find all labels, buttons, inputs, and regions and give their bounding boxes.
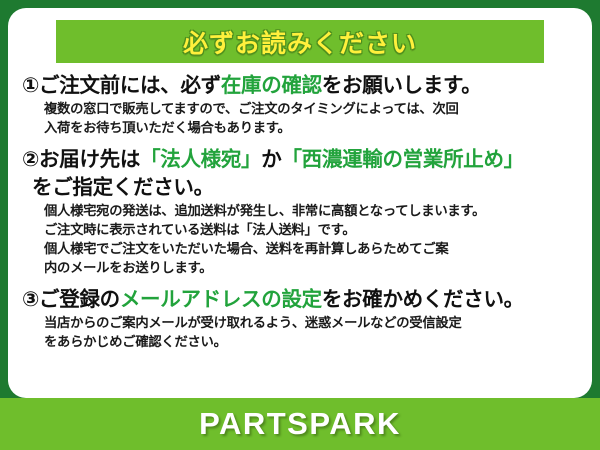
section-body-line: ご注文時に表示されている送料は「法人送料」です。 <box>44 222 578 241</box>
heading-highlight: 「法人様宛」 <box>140 147 261 171</box>
section-body-line: 内のメールをお送りします。 <box>44 260 578 279</box>
section-heading: ①ご注文前には、必ず在庫の確認をお願いします。 <box>22 72 578 99</box>
notice-banner: 必ずお読みください ①ご注文前には、必ず在庫の確認をお願いします。複数の窓口で販… <box>0 0 600 450</box>
section-body-line: 入荷をお待ち頂いただく場合もあります。 <box>44 120 578 139</box>
notice-section: ③ご登録のメールアドレスの設定をお確かめください。当店からのご案内メールが受け取… <box>22 286 578 353</box>
section-body: 当店からのご案内メールが受け取れるよう、迷惑メールなどの受信設定をあらかじめご確… <box>22 315 578 353</box>
section-heading: ②お届け先は「法人様宛」か「西濃運輸の営業所止め」 <box>22 146 578 173</box>
footer-bar: PARTSPARK <box>0 398 600 450</box>
section-body: 複数の窓口で販売してますので、ご注文のタイミングによっては、次回入荷をお待ち頂い… <box>22 101 578 139</box>
heading-text: をお願いします。 <box>322 73 482 97</box>
section-body-line: 個人様宅でご注文をいただいた場合、送料を再計算しあらためてご案 <box>44 241 578 260</box>
section-body: 個人様宅宛の発送は、追加送料が発生し、非常に高額となってしまいます。ご注文時に表… <box>22 203 578 279</box>
heading-text: ②お届け先は <box>22 147 140 171</box>
header-banner-bar: 必ずお読みください <box>56 20 544 63</box>
heading-text: ①ご注文前には、必ず <box>22 73 221 97</box>
heading-text: ③ご登録の <box>22 287 120 311</box>
section-heading-continuation: をご指定ください。 <box>22 174 578 201</box>
heading-highlight: 在庫の確認 <box>221 73 322 97</box>
heading-highlight: 「西濃運輸の営業所止め」 <box>281 147 523 171</box>
section-body-line: 複数の窓口で販売してますので、ご注文のタイミングによっては、次回 <box>44 101 578 120</box>
heading-text: をお確かめください。 <box>322 287 524 311</box>
notice-panel: 必ずお読みください ①ご注文前には、必ず在庫の確認をお願いします。複数の窓口で販… <box>8 8 592 398</box>
section-body-line: をあらかじめご確認ください。 <box>44 334 578 353</box>
notice-section: ①ご注文前には、必ず在庫の確認をお願いします。複数の窓口で販売してますので、ご注… <box>22 72 578 139</box>
heading-text: か <box>261 147 281 171</box>
section-body-line: 個人様宅宛の発送は、追加送料が発生し、非常に高額となってしまいます。 <box>44 203 578 222</box>
section-heading: ③ご登録のメールアドレスの設定をお確かめください。 <box>22 286 578 313</box>
page-title: 必ずお読みください <box>183 24 417 60</box>
heading-highlight: メールアドレスの設定 <box>120 287 322 311</box>
notice-section: ②お届け先は「法人様宛」か「西濃運輸の営業所止め」をご指定ください。個人様宅宛の… <box>22 146 578 278</box>
notice-sections: ①ご注文前には、必ず在庫の確認をお願いします。複数の窓口で販売してますので、ご注… <box>8 66 592 360</box>
section-body-line: 当店からのご案内メールが受け取れるよう、迷惑メールなどの受信設定 <box>44 315 578 334</box>
brand-logo: PARTSPARK <box>199 406 401 442</box>
